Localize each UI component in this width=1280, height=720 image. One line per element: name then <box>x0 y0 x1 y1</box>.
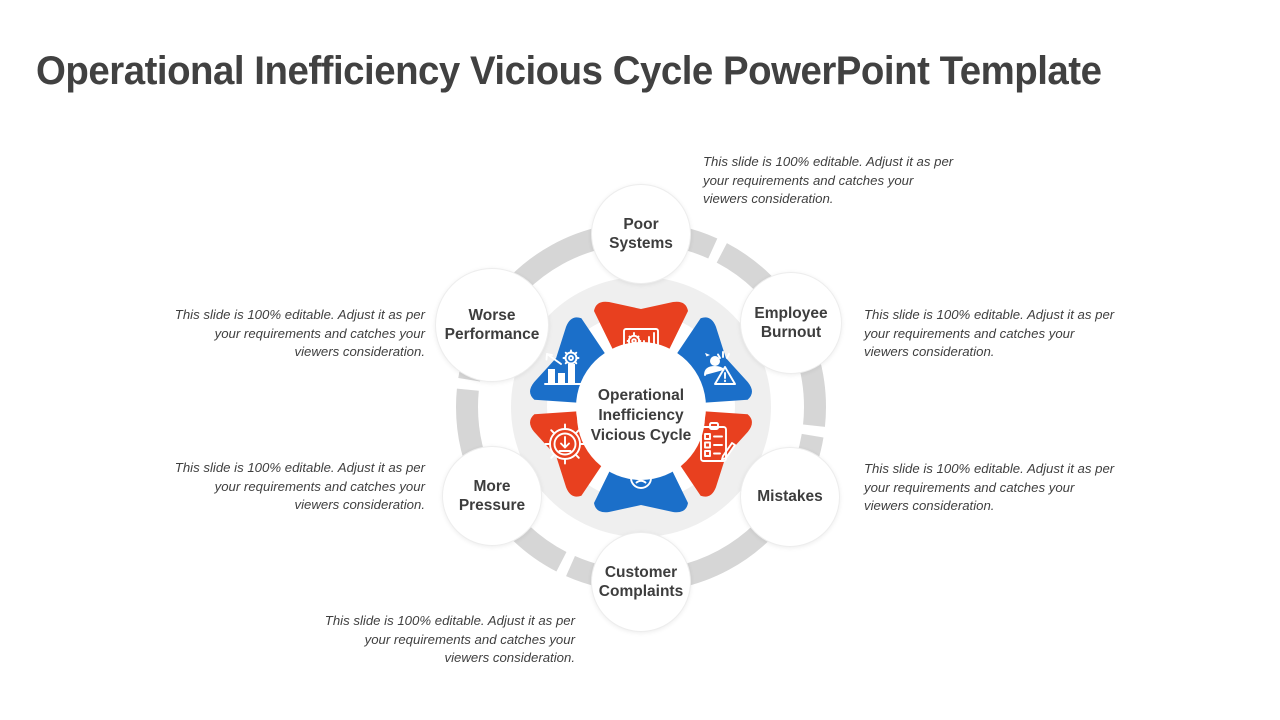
description-worse-performance: This slide is 100% editable. Adjust it a… <box>170 306 425 362</box>
description-poor-systems: This slide is 100% editable. Adjust it a… <box>703 153 961 209</box>
node-label-employee-burnout: Employee Burnout <box>741 304 841 342</box>
description-employee-burnout: This slide is 100% editable. Adjust it a… <box>864 306 1116 362</box>
description-mistakes: This slide is 100% editable. Adjust it a… <box>864 460 1116 516</box>
page-title: Operational Inefficiency Vicious Cycle P… <box>36 48 1188 94</box>
node-label-worse-performance: Worse Performance <box>436 306 548 344</box>
center-label: Operational Inefficiency Vicious Cycle <box>577 352 705 480</box>
node-bubble-employee-burnout[interactable]: Employee Burnout <box>740 272 842 374</box>
node-bubble-mistakes[interactable]: Mistakes <box>740 447 840 547</box>
node-bubble-more-pressure[interactable]: More Pressure <box>442 446 542 546</box>
node-bubble-customer-complaints[interactable]: Customer Complaints <box>591 532 691 632</box>
node-label-more-pressure: More Pressure <box>443 477 541 515</box>
description-more-pressure: This slide is 100% editable. Adjust it a… <box>170 459 425 515</box>
node-label-mistakes: Mistakes <box>753 487 826 506</box>
center-label-text: Operational Inefficiency Vicious Cycle <box>577 386 705 446</box>
node-label-customer-complaints: Customer Complaints <box>592 563 690 601</box>
node-bubble-poor-systems[interactable]: Poor Systems <box>591 184 691 284</box>
node-label-poor-systems: Poor Systems <box>592 215 690 253</box>
node-bubble-worse-performance[interactable]: Worse Performance <box>435 268 549 382</box>
description-customer-complaints: This slide is 100% editable. Adjust it a… <box>320 612 575 668</box>
